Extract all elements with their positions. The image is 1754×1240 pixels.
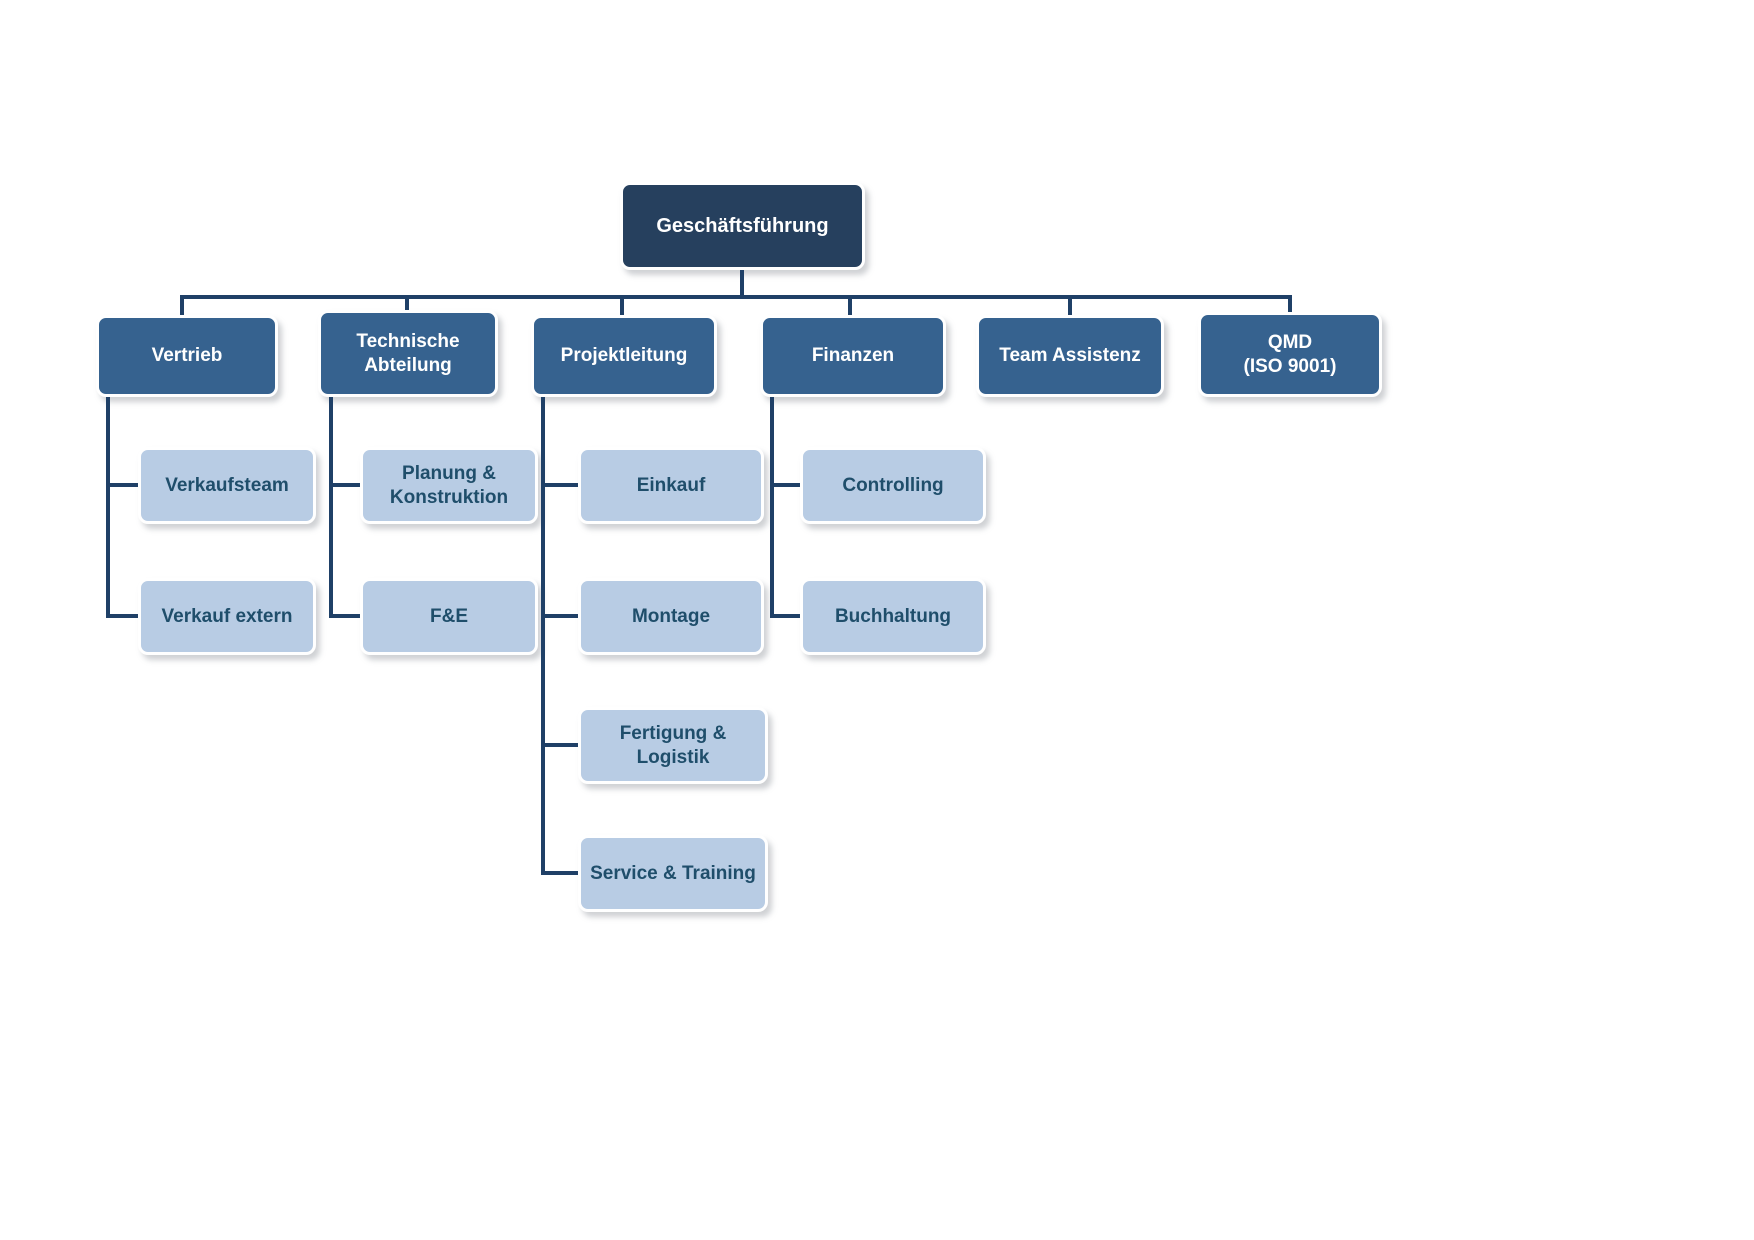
connector-department-bus <box>180 295 1292 299</box>
node-label: Service & Training <box>589 862 757 885</box>
node-montage[interactable]: Montage <box>578 578 764 655</box>
connector-technische-abteilung-spine <box>329 397 333 618</box>
node-einkauf[interactable]: Einkauf <box>578 447 764 524</box>
node-label: Geschäftsführung <box>631 214 854 238</box>
connector-projektleitung-to-einkauf <box>541 483 581 487</box>
node-fertigung-logistik[interactable]: Fertigung & Logistik <box>578 707 768 784</box>
connector-vertrieb-spine <box>106 397 110 618</box>
node-label-line2: Abteilung <box>364 355 452 376</box>
node-label: Planung & Konstruktion <box>371 462 527 508</box>
connector-projektleitung-spine <box>541 397 545 875</box>
org-chart-canvas: Geschäftsführung Vertrieb Technische Abt… <box>0 0 1754 1240</box>
connector-drop-team-assistenz <box>1068 295 1072 317</box>
node-service-training[interactable]: Service & Training <box>578 835 768 912</box>
connector-root-stem <box>740 270 744 297</box>
node-label-line2: Konstruktion <box>390 487 508 508</box>
node-label: Finanzen <box>771 344 935 367</box>
node-team-assistenz[interactable]: Team Assistenz <box>976 315 1164 397</box>
node-qmd[interactable]: QMD (ISO 9001) <box>1198 312 1382 397</box>
node-label: Team Assistenz <box>987 344 1153 367</box>
node-vertrieb[interactable]: Vertrieb <box>96 315 278 397</box>
node-label: Controlling <box>811 474 975 497</box>
node-label: Verkauf extern <box>149 605 305 628</box>
node-technische-abteilung[interactable]: Technische Abteilung <box>318 310 498 397</box>
node-label-line1: QMD <box>1268 332 1312 353</box>
connector-drop-finanzen <box>848 295 852 317</box>
node-label: Vertrieb <box>107 344 267 367</box>
node-label: Verkaufsteam <box>149 474 305 497</box>
node-label-line1: Planung & <box>402 463 496 484</box>
node-fue[interactable]: F&E <box>360 578 538 655</box>
connector-drop-projektleitung <box>620 295 624 317</box>
node-finanzen[interactable]: Finanzen <box>760 315 946 397</box>
node-label: QMD (ISO 9001) <box>1209 331 1371 377</box>
node-label: Technische Abteilung <box>329 330 487 376</box>
node-label: Projektleitung <box>542 344 706 367</box>
connector-finanzen-spine <box>770 397 774 618</box>
connector-projektleitung-to-montage <box>541 614 581 618</box>
connector-drop-vertrieb <box>180 295 184 317</box>
node-geschaeftsfuehrung[interactable]: Geschäftsführung <box>620 182 865 270</box>
node-label-line2: (ISO 9001) <box>1244 356 1337 377</box>
connector-projektleitung-to-fertigung-logistik <box>541 743 581 747</box>
connector-vertrieb-to-verkaufsteam <box>106 483 142 487</box>
node-label-line1: Technische <box>356 331 459 352</box>
node-label: Montage <box>589 605 753 628</box>
node-label: Fertigung & Logistik <box>589 722 757 768</box>
node-planung-konstruktion[interactable]: Planung & Konstruktion <box>360 447 538 524</box>
node-label: F&E <box>371 605 527 628</box>
node-projektleitung[interactable]: Projektleitung <box>531 315 717 397</box>
node-label: Einkauf <box>589 474 753 497</box>
node-verkauf-extern[interactable]: Verkauf extern <box>138 578 316 655</box>
node-controlling[interactable]: Controlling <box>800 447 986 524</box>
connector-vertrieb-to-verkauf-extern <box>106 614 142 618</box>
node-verkaufsteam[interactable]: Verkaufsteam <box>138 447 316 524</box>
connector-projektleitung-to-service-training <box>541 871 581 875</box>
node-label: Buchhaltung <box>811 605 975 628</box>
node-buchhaltung[interactable]: Buchhaltung <box>800 578 986 655</box>
